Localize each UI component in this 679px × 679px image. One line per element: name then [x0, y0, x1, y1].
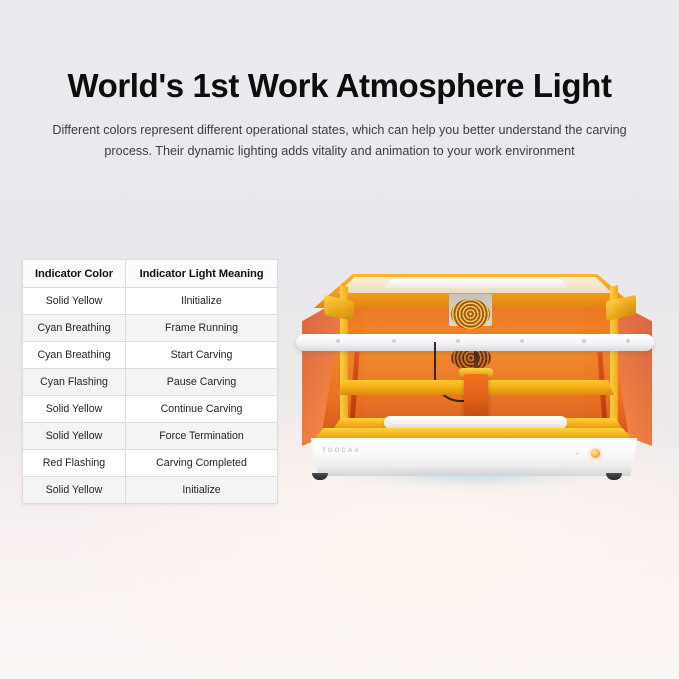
cell-indicator-meaning: Pause Carving: [126, 369, 278, 396]
indicator-table-wrapper: Indicator Color Indicator Light Meaning …: [22, 259, 277, 504]
cell-indicator-meaning: Continue Carving: [126, 396, 278, 423]
product-image-laser-engraver: TOOCAA: [288, 268, 672, 510]
status-indicator-dot: [576, 452, 579, 455]
cell-indicator-meaning: Carving Completed: [126, 450, 278, 477]
table-header: Indicator Color Indicator Light Meaning: [23, 260, 278, 288]
table-row: Solid Yellow Ilnitialize: [23, 288, 278, 315]
cell-indicator-meaning: Ilnitialize: [126, 288, 278, 315]
table-row: Solid Yellow Continue Carving: [23, 396, 278, 423]
table-row: Solid Yellow Force Termination: [23, 423, 278, 450]
table-row: Cyan Breathing Frame Running: [23, 315, 278, 342]
top-frame-highlight: [384, 279, 568, 288]
cell-indicator-meaning: Force Termination: [126, 423, 278, 450]
indicator-light-table: Indicator Color Indicator Light Meaning …: [22, 259, 278, 504]
promo-page: World's 1st Work Atmosphere Light Differ…: [0, 0, 679, 679]
cell-indicator-color: Solid Yellow: [23, 477, 126, 504]
cell-indicator-color: Cyan Breathing: [23, 315, 126, 342]
table-row: Red Flashing Carving Completed: [23, 450, 278, 477]
exhaust-fan-grille: [451, 299, 490, 329]
cell-indicator-meaning: Frame Running: [126, 315, 278, 342]
cell-indicator-color: Solid Yellow: [23, 423, 126, 450]
table-row: Solid Yellow Initialize: [23, 477, 278, 504]
cell-indicator-color: Solid Yellow: [23, 396, 126, 423]
cell-indicator-meaning: Initialize: [126, 477, 278, 504]
work-bed: [384, 416, 567, 429]
header-block: World's 1st Work Atmosphere Light Differ…: [0, 68, 679, 161]
brand-logo: TOOCAA: [322, 448, 361, 454]
table-body: Solid Yellow Ilnitialize Cyan Breathing …: [23, 288, 278, 504]
table-header-row: Indicator Color Indicator Light Meaning: [23, 260, 278, 288]
table-row: Cyan Flashing Pause Carving: [23, 369, 278, 396]
page-subtitle: Different colors represent different ope…: [32, 120, 648, 161]
cell-indicator-color: Red Flashing: [23, 450, 126, 477]
cell-indicator-color: Cyan Flashing: [23, 369, 126, 396]
column-header-indicator-color: Indicator Color: [23, 260, 126, 288]
table-row: Cyan Breathing Start Carving: [23, 342, 278, 369]
cell-indicator-meaning: Start Carving: [126, 342, 278, 369]
power-button[interactable]: [591, 449, 600, 458]
page-title: World's 1st Work Atmosphere Light: [0, 68, 679, 104]
column-header-indicator-meaning: Indicator Light Meaning: [126, 260, 278, 288]
floor-reflection: [318, 474, 630, 504]
laser-head-module: [464, 374, 488, 416]
cell-indicator-color: Solid Yellow: [23, 288, 126, 315]
front-yellow-rail: [314, 428, 632, 439]
cell-indicator-color: Cyan Breathing: [23, 342, 126, 369]
